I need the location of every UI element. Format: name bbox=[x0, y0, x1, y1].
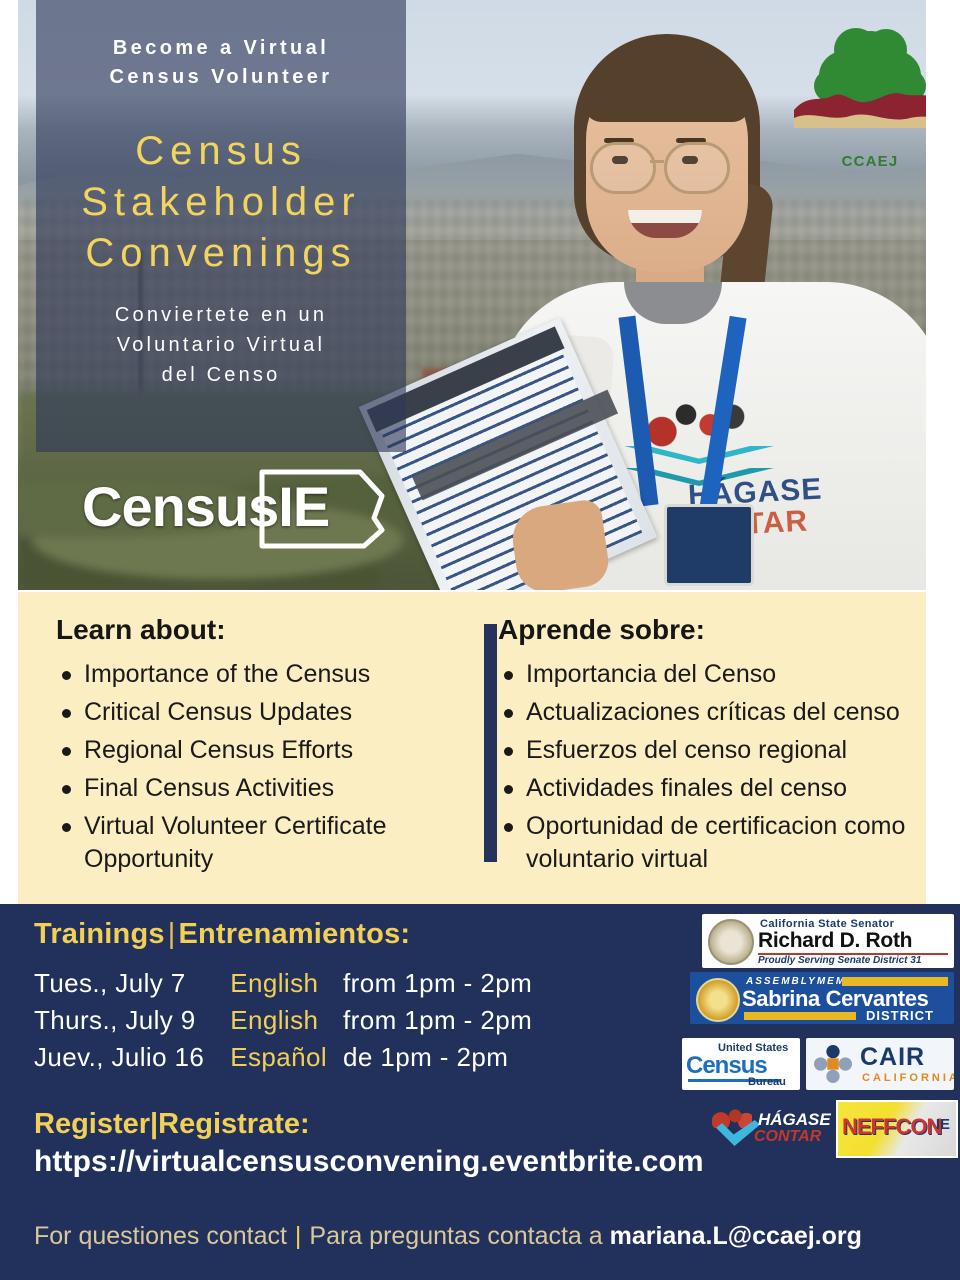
trainings-heading-es: Entrenamientos: bbox=[178, 918, 410, 950]
hero-title-line2: Stakeholder bbox=[36, 177, 406, 228]
sponsor-logo-richard-roth: California State Senator Richard D. Roth… bbox=[702, 914, 954, 968]
list-item: Final Census Activities bbox=[56, 772, 456, 805]
neffcon-name: NEFFCON bbox=[842, 1114, 941, 1140]
contact-text-en: For questiones contact bbox=[34, 1222, 287, 1250]
list-item: Importance of the Census bbox=[56, 658, 456, 691]
footer-inner: Trainings|Entrenamientos: Tues., July 7 … bbox=[18, 904, 960, 1280]
state-seal-icon bbox=[708, 919, 754, 965]
sponsor-logo-sabrina-cervantes: ASSEMBLYMEMBER Sabrina Cervantes DISTRIC… bbox=[690, 972, 954, 1024]
register-heading: Register|Registrate: bbox=[34, 1108, 814, 1141]
cervantes-accent-bar-bottom bbox=[744, 1012, 856, 1020]
cair-flower-icon bbox=[814, 1045, 852, 1083]
hero-title-line3: Convenings bbox=[36, 228, 406, 279]
sponsor-logo-us-census-bureau: United States Census Bureau bbox=[682, 1038, 800, 1090]
schedule-language: Español bbox=[230, 1039, 343, 1076]
table-row: Tues., July 7 English from 1pm - 2pm bbox=[34, 965, 532, 1002]
list-item: Esfuerzos del censo regional bbox=[498, 734, 918, 767]
schedule-date: Tues., July 7 bbox=[34, 965, 230, 1002]
registration-url-link[interactable]: https://virtualcensusconvening.eventbrit… bbox=[34, 1145, 814, 1179]
column-divider bbox=[484, 624, 497, 862]
hagase-line1: HÁGASE bbox=[758, 1110, 831, 1130]
hagase-line2: CONTAR bbox=[754, 1128, 821, 1146]
schedule-language: English bbox=[230, 965, 343, 1002]
schedule-language: English bbox=[230, 1002, 343, 1039]
censusie-logo: CensusIE bbox=[82, 470, 382, 562]
register-heading-en: Register bbox=[34, 1108, 150, 1140]
headline-panel: Become a Virtual Census Volunteer Census… bbox=[36, 0, 406, 452]
cair-name: CAIR bbox=[860, 1043, 925, 1072]
cervantes-accent-bar-top bbox=[842, 977, 948, 986]
hero-kicker: Become a Virtual Census Volunteer bbox=[36, 34, 406, 92]
trainings-heading-en: Trainings bbox=[34, 918, 165, 950]
flyer-poster: HÁGASE CONTAR NALEO Become a Virtual Cen… bbox=[0, 0, 960, 1280]
census-bureau-bureau: Bureau bbox=[748, 1076, 786, 1088]
eyeglasses-lens-left bbox=[590, 142, 656, 194]
roth-name: Richard D. Roth bbox=[758, 929, 912, 953]
list-item: Regional Census Efforts bbox=[56, 734, 456, 767]
contact-separator: | bbox=[287, 1222, 310, 1250]
learn-about-english-list: Importance of the Census Critical Census… bbox=[56, 658, 456, 876]
hero-subtitle-line1: Conviertete en un bbox=[36, 300, 406, 330]
list-item: Critical Census Updates bbox=[56, 696, 456, 729]
footer-section: Trainings|Entrenamientos: Tues., July 7 … bbox=[0, 904, 960, 1280]
inland-empire-outline-icon bbox=[256, 466, 388, 552]
schedule-date: Thurs., July 9 bbox=[34, 1002, 230, 1039]
schedule-time: from 1pm - 2pm bbox=[343, 1002, 532, 1039]
learn-about-spanish-heading: Aprende sobre: bbox=[498, 614, 918, 646]
ccaej-logo: CCAEJ bbox=[790, 24, 926, 172]
table-row: Juev., Julio 16 Español de 1pm - 2pm bbox=[34, 1039, 532, 1076]
register-block: Register|Registrate: https://virtualcens… bbox=[34, 1108, 814, 1179]
trainings-heading-separator: | bbox=[165, 918, 179, 950]
contact-line: For questiones contact|Para preguntas co… bbox=[34, 1222, 862, 1251]
learn-about-english-column: Learn about: Importance of the Census Cr… bbox=[56, 614, 456, 881]
assembly-seal-icon bbox=[696, 978, 740, 1022]
learn-about-spanish-list: Importancia del Censo Actualizaciones cr… bbox=[498, 658, 918, 876]
trainings-heading: Trainings|Entrenamientos: bbox=[34, 918, 674, 951]
register-heading-separator: | bbox=[150, 1108, 158, 1140]
hero-photo: HÁGASE CONTAR NALEO Become a Virtual Cen… bbox=[18, 0, 926, 590]
eyeglasses-bridge bbox=[650, 160, 664, 163]
hero-subtitle-line3: del Censo bbox=[36, 360, 406, 390]
hagase-hands-icon bbox=[712, 1106, 752, 1128]
learn-about-section: Learn about: Importance of the Census Cr… bbox=[18, 592, 926, 904]
sponsor-logo-hagase-contar: HÁGASE CONTAR bbox=[706, 1106, 828, 1154]
trainings-block: Trainings|Entrenamientos: Tues., July 7 … bbox=[34, 918, 674, 1076]
schedule-time: de 1pm - 2pm bbox=[343, 1039, 532, 1076]
hero-subtitle: Conviertete en un Voluntario Virtual del… bbox=[36, 300, 406, 390]
training-schedule-table: Tues., July 7 English from 1pm - 2pm Thu… bbox=[34, 965, 532, 1076]
table-row: Thurs., July 9 English from 1pm - 2pm bbox=[34, 1002, 532, 1039]
sponsor-logo-neffcon: NEFFCON IE bbox=[836, 1100, 958, 1158]
sponsor-logo-cair-california: CAIR CALIFORNIA bbox=[806, 1038, 954, 1090]
hero-kicker-line2: Census Volunteer bbox=[36, 63, 406, 92]
register-heading-es: Registrate: bbox=[158, 1108, 310, 1140]
id-badge bbox=[664, 504, 754, 586]
hero-title-line1: Census bbox=[36, 126, 406, 177]
subject-teeth bbox=[628, 210, 702, 223]
ccaej-logo-label: CCAEJ bbox=[790, 153, 926, 170]
learn-about-english-heading: Learn about: bbox=[56, 614, 456, 646]
subject-bangs bbox=[584, 56, 750, 122]
raised-hands-icon bbox=[642, 384, 752, 452]
roth-district: Proudly Serving Senate District 31 bbox=[758, 955, 921, 966]
list-item: Importancia del Censo bbox=[498, 658, 918, 691]
list-item: Oportunidad de certificacion como volunt… bbox=[498, 810, 918, 876]
list-item: Virtual Volunteer Certificate Opportunit… bbox=[56, 810, 456, 876]
list-item: Actualizaciones críticas del censo bbox=[498, 696, 918, 729]
contact-email-link[interactable]: mariana.L@ccaej.org bbox=[610, 1222, 862, 1250]
ccaej-tree-icon bbox=[790, 24, 926, 154]
hero-subtitle-line2: Voluntario Virtual bbox=[36, 330, 406, 360]
schedule-date: Juev., Julio 16 bbox=[34, 1039, 230, 1076]
hero-kicker-line1: Become a Virtual bbox=[36, 34, 406, 63]
learn-about-spanish-column: Aprende sobre: Importancia del Censo Act… bbox=[498, 614, 918, 881]
cervantes-district: DISTRICT 60 bbox=[866, 1008, 954, 1024]
contact-text-es: Para preguntas contacta a bbox=[309, 1222, 602, 1250]
hero-title: Census Stakeholder Convenings bbox=[36, 126, 406, 280]
schedule-time: from 1pm - 2pm bbox=[343, 965, 532, 1002]
cair-state: CALIFORNIA bbox=[862, 1072, 954, 1084]
list-item: Actividades finales del censo bbox=[498, 772, 918, 805]
neffcon-suffix: IE bbox=[936, 1116, 950, 1133]
eyeglasses-lens-right bbox=[664, 142, 730, 194]
